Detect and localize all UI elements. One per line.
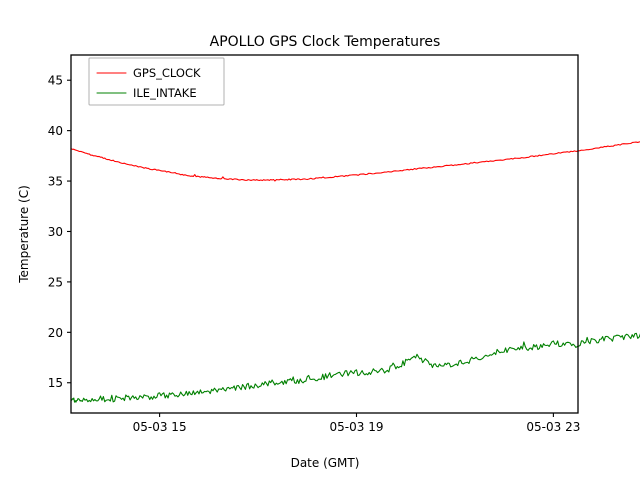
x-tick-label: 05-03 15	[133, 420, 187, 434]
y-tick-label: 15	[48, 376, 63, 390]
temperature-line-chart: APOLLO GPS Clock Temperatures 1520253035…	[0, 0, 640, 480]
y-tick-label: 40	[48, 124, 63, 138]
legend-entry-label: ILE_INTAKE	[133, 86, 197, 100]
y-tick-label: 20	[48, 326, 63, 340]
y-tick-label: 35	[48, 175, 63, 189]
chart-figure: APOLLO GPS Clock Temperatures 1520253035…	[0, 0, 640, 480]
y-tick-label: 30	[48, 225, 63, 239]
plot-area-background	[71, 55, 578, 413]
y-tick-label: 25	[48, 275, 63, 289]
legend-entry-label: GPS_CLOCK	[133, 66, 201, 80]
chart-title: APOLLO GPS Clock Temperatures	[210, 34, 441, 50]
x-tick-label: 05-03 19	[330, 420, 384, 434]
x-axis-label: Date (GMT)	[291, 456, 360, 470]
x-tick-label: 05-03 23	[526, 420, 580, 434]
y-tick-label: 45	[48, 74, 63, 88]
y-axis-label: Temperature (C)	[17, 185, 31, 284]
chart-legend[interactable]: GPS_CLOCK ILE_INTAKE	[89, 58, 224, 105]
